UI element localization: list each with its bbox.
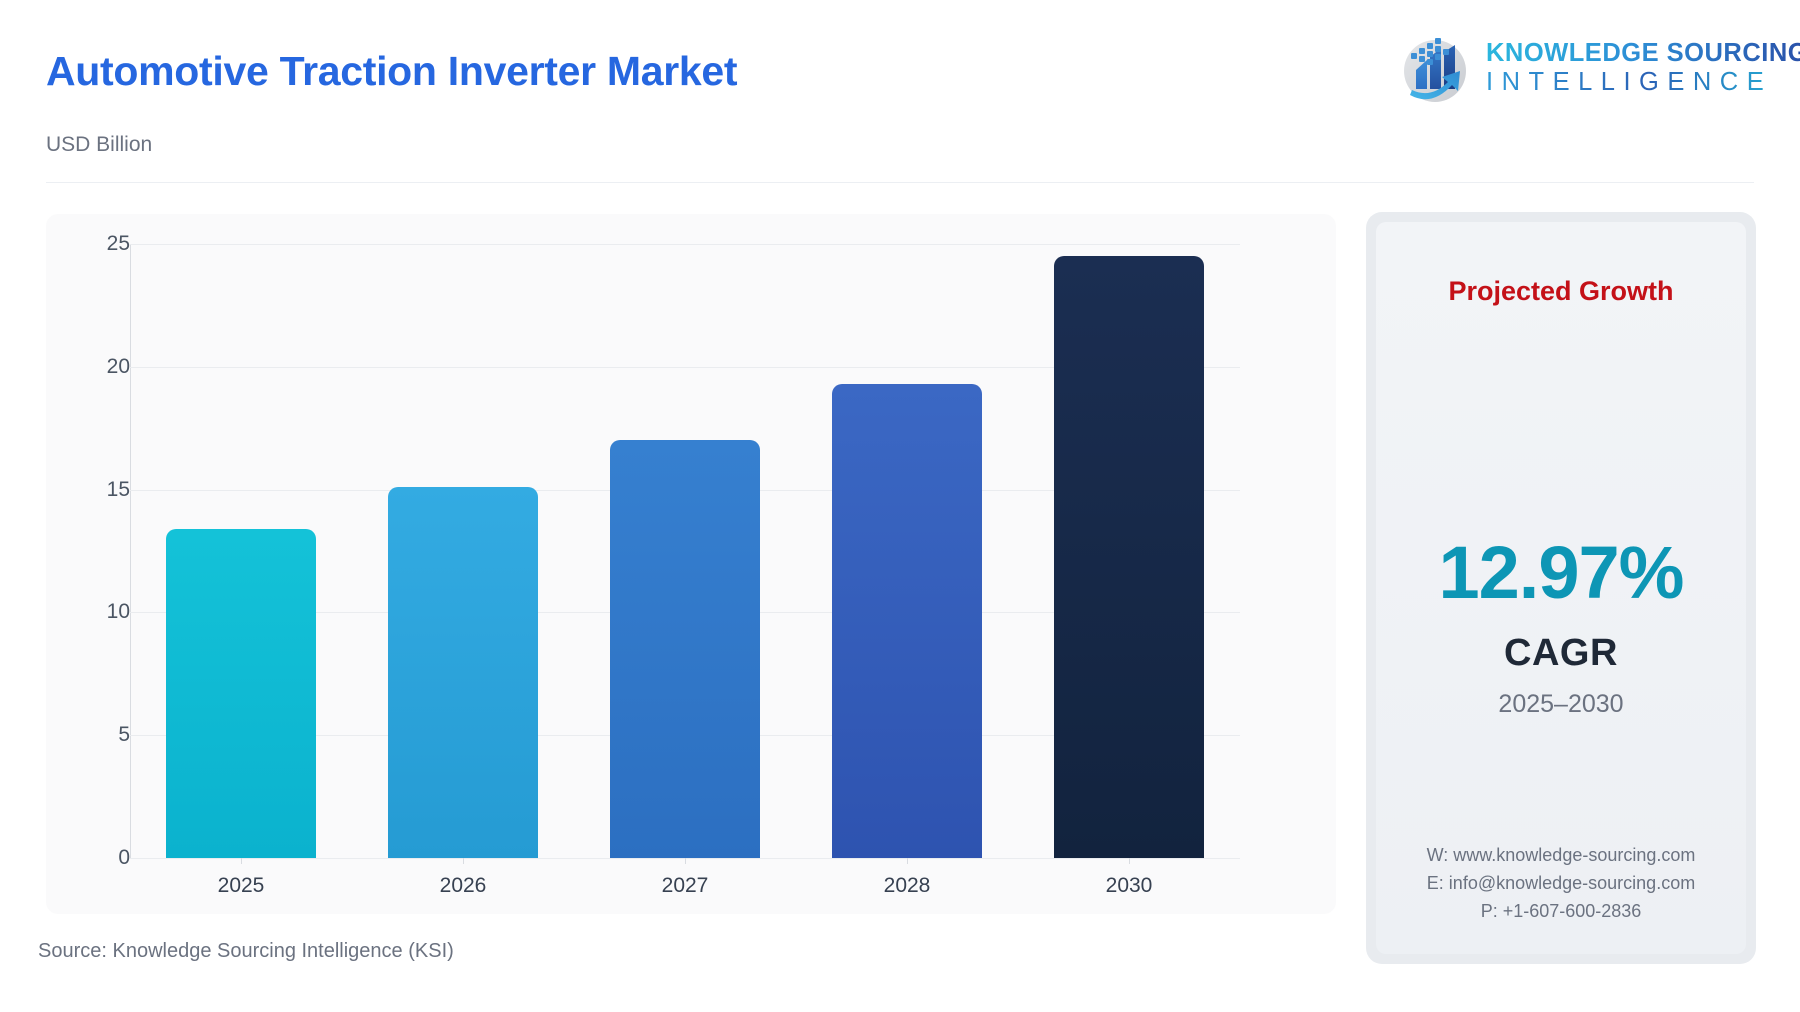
y-axis-line [130,244,131,858]
panel-heading: Projected Growth [1376,276,1746,307]
x-axis-tick [1129,858,1130,864]
x-axis-tick-label: 2027 [662,874,709,898]
cagr-period: 2025–2030 [1376,690,1746,719]
projected-growth-panel: Projected Growth 12.97% CAGR 2025–2030 W… [1366,212,1756,964]
company-logo: KNOWLEDGE SOURCING INTELLIGENCE [1394,22,1764,114]
contact-email: E: info@knowledge-sourcing.com [1376,870,1746,898]
bar-2028[interactable] [832,384,982,858]
y-axis-tick-label: 5 [70,723,130,747]
bar-2025[interactable] [166,529,316,858]
infographic-page: Automotive Traction Inverter Market USD … [0,0,1800,1012]
x-axis-tick-label: 2025 [218,874,265,898]
y-axis-tick-label: 25 [70,232,130,256]
chart-card: 051015202520252026202720282030 [46,214,1336,914]
x-axis-tick [685,858,686,864]
x-axis-tick [463,858,464,864]
page-title: Automotive Traction Inverter Market [46,48,737,95]
y-axis-tick-label: 10 [70,600,130,624]
bar-2030[interactable] [1054,256,1204,858]
x-axis-tick [907,858,908,864]
contact-block: W: www.knowledge-sourcing.com E: info@kn… [1376,842,1746,926]
source-note: Source: Knowledge Sourcing Intelligence … [38,940,454,963]
y-axis-tick-label: 0 [70,846,130,870]
bar-2026[interactable] [388,487,538,858]
x-axis-tick-label: 2028 [884,874,931,898]
contact-phone: P: +1-607-600-2836 [1376,898,1746,926]
projected-growth-panel-inner: Projected Growth 12.97% CAGR 2025–2030 W… [1376,222,1746,954]
y-axis-tick-label: 15 [70,478,130,502]
bar-chart-plot: 051015202520252026202720282030 [46,214,1336,914]
header: Automotive Traction Inverter Market USD … [0,0,1800,186]
gridline [130,244,1240,245]
cagr-label: CAGR [1376,632,1746,675]
y-axis-tick-label: 20 [70,355,130,379]
bar-2027[interactable] [610,440,760,858]
contact-website: W: www.knowledge-sourcing.com [1376,842,1746,870]
cagr-value: 12.97% [1376,536,1746,610]
logo-line-knowledge-sourcing: KNOWLEDGE SOURCING [1486,39,1800,67]
x-axis-tick-label: 2026 [440,874,487,898]
bar-chart-globe-arrow-icon [1394,27,1476,109]
page-subtitle: USD Billion [46,133,152,157]
x-axis-tick-label: 2030 [1106,874,1153,898]
logo-wordmark: KNOWLEDGE SOURCING INTELLIGENCE [1486,37,1800,99]
logo-line-intelligence: INTELLIGENCE [1486,67,1800,99]
header-divider [46,182,1754,183]
x-axis-tick [241,858,242,864]
